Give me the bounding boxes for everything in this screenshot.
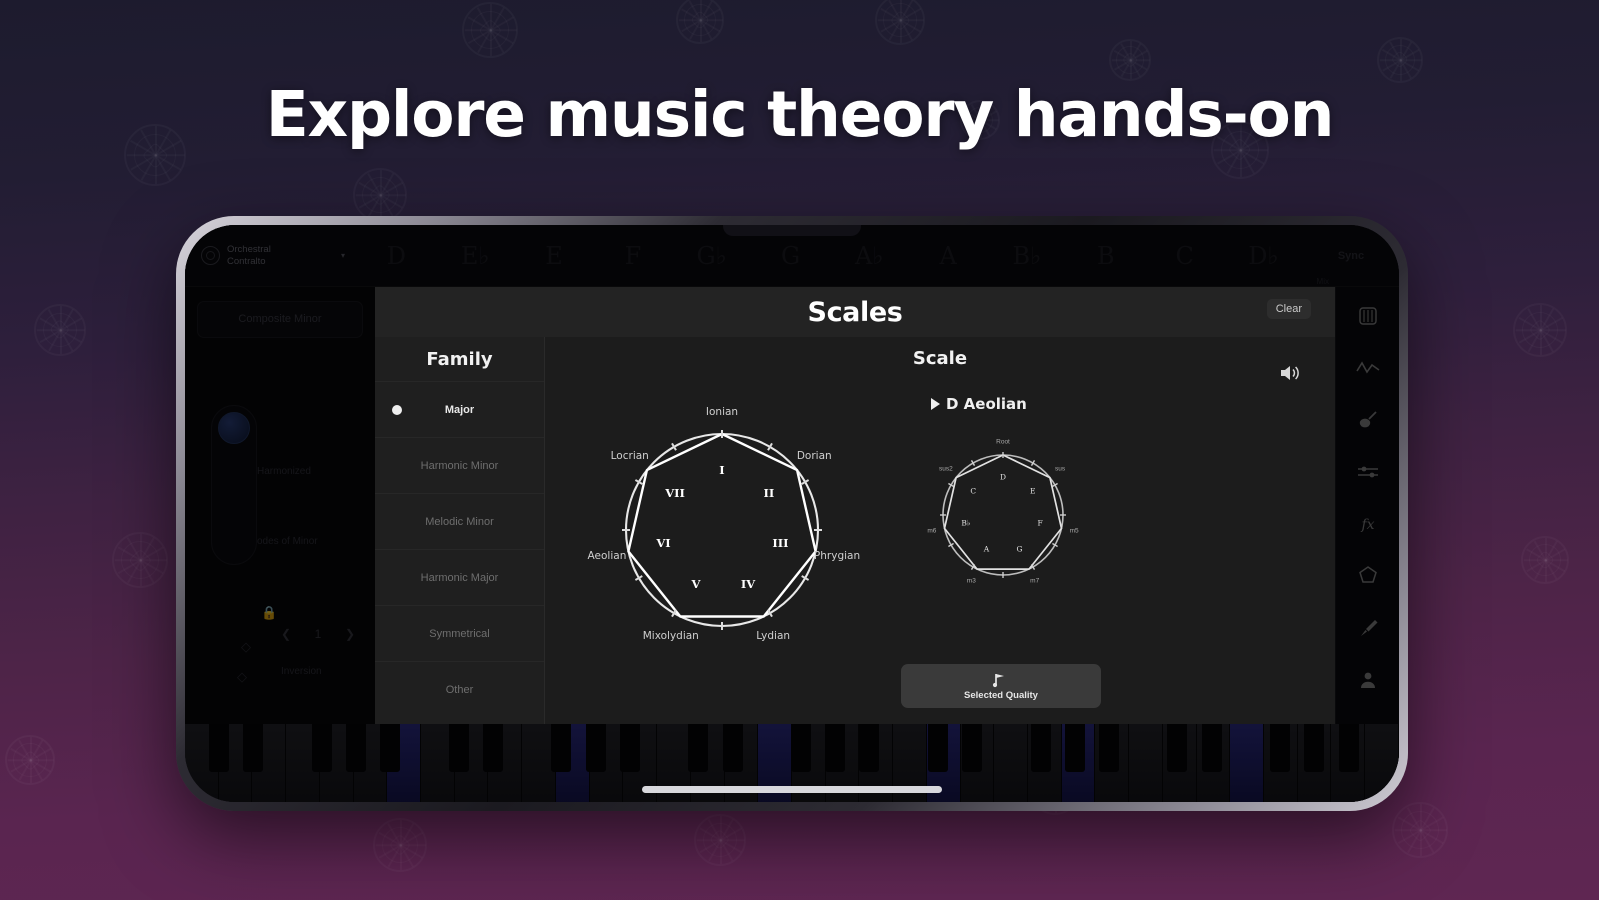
watermark-circle-of-fifths — [1513, 303, 1567, 357]
note-button-8[interactable]: B♭ — [988, 242, 1067, 270]
piano-black-key-14[interactable] — [859, 724, 879, 772]
piano-black-key-12[interactable] — [791, 724, 811, 772]
note-button-11[interactable]: D♭ — [1224, 242, 1303, 270]
family-item-label: Harmonic Minor — [421, 460, 499, 472]
family-item-label: Harmonic Major — [421, 572, 499, 584]
settings-diamond-icon[interactable]: ◇ — [241, 639, 251, 655]
note-button-0[interactable]: D — [357, 242, 436, 270]
piano-black-key-1[interactable] — [243, 724, 263, 772]
chord-wheel-note-2[interactable]: F — [1037, 519, 1042, 528]
preset-selector[interactable]: Orchestral Contralto ▾ — [185, 244, 357, 268]
modes-of-minor-label: odes of Minor — [257, 535, 318, 550]
chord-wheel-note-6[interactable]: C — [970, 487, 976, 496]
degree-III[interactable]: III — [772, 536, 788, 550]
inversion-stepper[interactable]: ❮ 1 ❯ — [281, 627, 355, 641]
inversion-label: Inversion — [281, 665, 322, 680]
mode-label-phrygian[interactable]: Phrygian — [814, 550, 860, 562]
mode-label-locrian[interactable]: Locrian — [611, 450, 649, 462]
family-item-label: Melodic Minor — [425, 516, 493, 528]
watermark-circle-of-fifths — [34, 304, 86, 356]
clear-button[interactable]: Clear — [1267, 299, 1311, 319]
piano-black-key-9[interactable] — [620, 724, 640, 772]
note-button-4[interactable]: G♭ — [672, 242, 751, 270]
watermark-circle-of-fifths — [1521, 536, 1569, 584]
family-item-label: Major — [445, 404, 474, 416]
black-keys[interactable] — [185, 724, 1399, 772]
lock-icon[interactable]: 🔒 — [261, 605, 277, 621]
polygon-icon[interactable] — [1351, 561, 1385, 591]
loop-icon[interactable]: ◇ — [237, 669, 247, 685]
degree-VII[interactable]: VII — [665, 486, 685, 500]
chord-wheel-note-5[interactable]: B♭ — [961, 519, 970, 528]
chord-wheel-label-0[interactable]: Root — [996, 439, 1010, 446]
family-item-label: Symmetrical — [429, 628, 490, 640]
page-title: Explore music theory hands-on — [0, 78, 1599, 151]
selected-quality-button[interactable]: Selected Quality — [901, 664, 1101, 708]
degree-V[interactable]: V — [691, 577, 700, 591]
chord-wheel-label-6[interactable]: sus2 — [939, 466, 953, 473]
piano-black-key-8[interactable] — [586, 724, 606, 772]
note-button-9[interactable]: B — [1066, 242, 1145, 270]
chord-wheel-note-1[interactable]: E — [1030, 487, 1035, 496]
waveform-icon[interactable] — [1351, 353, 1385, 383]
piano-black-key-17[interactable] — [1031, 724, 1051, 772]
selected-quality-label: Selected Quality — [964, 690, 1038, 701]
note-button-2[interactable]: E — [515, 242, 594, 270]
family-item-label: Other — [446, 684, 474, 696]
family-item-harmonic-minor[interactable]: Harmonic Minor — [375, 437, 544, 493]
play-icon[interactable] — [931, 398, 940, 410]
piano-black-key-16[interactable] — [962, 724, 982, 772]
chord-quality-label: Composite Minor — [206, 311, 354, 328]
phone-device-frame: Orchestral Contralto ▾ DE♭EFG♭GA♭AB♭BCD♭… — [176, 216, 1408, 811]
note-button-3[interactable]: F — [593, 242, 672, 270]
note-button-6[interactable]: A♭ — [830, 242, 909, 270]
speaker-icon[interactable] — [1279, 363, 1301, 388]
piano-black-key-10[interactable] — [688, 724, 708, 772]
note-list[interactable]: DE♭EFG♭GA♭AB♭BCD♭ — [357, 242, 1303, 270]
modal-title: Scales — [808, 297, 903, 328]
mode-wheel-svg[interactable] — [597, 405, 847, 655]
piano-black-key-19[interactable] — [1099, 724, 1119, 772]
watermark-circle-of-fifths — [112, 532, 168, 588]
piano-black-key-7[interactable] — [551, 724, 571, 772]
piano-black-key-21[interactable] — [1202, 724, 1222, 772]
chord-wheel[interactable]: Rootsusm5m7m3m6sus2 DEFGAB♭C — [923, 435, 1083, 595]
piano-black-key-4[interactable] — [380, 724, 400, 772]
watermark-circle-of-fifths — [353, 168, 407, 222]
chord-wheel-note-0[interactable]: D — [1000, 473, 1006, 482]
degree-IV[interactable]: IV — [741, 577, 755, 591]
chevron-down-icon[interactable]: ▾ — [341, 251, 345, 260]
chord-wheel-label-3[interactable]: m7 — [1030, 577, 1039, 584]
preset-name: Orchestral Contralto — [227, 244, 311, 268]
svg-text:fx: fx — [1360, 517, 1374, 533]
piano-black-key-15[interactable] — [928, 724, 948, 772]
watermark-circle-of-fifths — [373, 818, 427, 872]
piano-black-key-6[interactable] — [483, 724, 503, 772]
degree-I[interactable]: I — [719, 463, 724, 477]
phone-screen: Orchestral Contralto ▾ DE♭EFG♭GA♭AB♭BCD♭… — [185, 225, 1399, 802]
watermark-circle-of-fifths — [1377, 37, 1423, 83]
scale-title: Scale — [545, 348, 1335, 369]
mode-label-dorian[interactable]: Dorian — [797, 450, 832, 462]
mode-label-lydian[interactable]: Lydian — [756, 630, 790, 642]
scales-modal[interactable]: Scales Clear Family MajorHarmonic MinorM… — [375, 287, 1335, 724]
piano-black-key-24[interactable] — [1339, 724, 1359, 772]
brush-icon[interactable] — [1351, 613, 1385, 643]
harmonized-label: Harmonized — [257, 465, 311, 480]
watermark-circle-of-fifths — [875, 0, 925, 45]
chord-wheel-label-1[interactable]: sus — [1055, 466, 1065, 473]
piano-black-key-13[interactable] — [825, 724, 845, 772]
watermark-circle-of-fifths — [462, 2, 518, 58]
sync-label[interactable]: Sync — [1303, 250, 1399, 262]
piano-black-key-18[interactable] — [1065, 724, 1085, 772]
guitar-icon[interactable] — [1351, 405, 1385, 435]
chord-wheel-label-4[interactable]: m3 — [967, 577, 976, 584]
quality-icon — [992, 672, 1010, 688]
chord-name[interactable]: D Aeolian — [931, 395, 1027, 413]
mode-label-aeolian[interactable]: Aeolian — [588, 550, 627, 562]
chord-wheel-note-3[interactable]: G — [1016, 545, 1022, 554]
piano-black-key-5[interactable] — [449, 724, 469, 772]
note-button-1[interactable]: E♭ — [436, 242, 515, 270]
note-button-7[interactable]: A — [909, 242, 988, 270]
family-title: Family — [375, 337, 544, 381]
piano-black-key-22[interactable] — [1270, 724, 1290, 772]
chord-knob[interactable] — [218, 412, 250, 444]
modal-header: Scales Clear — [375, 287, 1335, 337]
watermark-circle-of-fifths — [1392, 802, 1448, 858]
watermark-circle-of-fifths — [676, 0, 724, 44]
stepper-prev-button[interactable]: ❮ — [281, 627, 291, 641]
family-item-melodic-minor[interactable]: Melodic Minor — [375, 493, 544, 549]
person-icon[interactable] — [1351, 665, 1385, 695]
modal-body: Family MajorHarmonic MinorMelodic MinorH… — [375, 337, 1335, 724]
chord-wheel-svg[interactable] — [923, 435, 1083, 595]
family-item-harmonic-major[interactable]: Harmonic Major — [375, 549, 544, 605]
chord-quality-card[interactable]: Composite Minor — [197, 301, 363, 338]
degree-II[interactable]: II — [764, 486, 775, 500]
grid-icon[interactable] — [1351, 301, 1385, 331]
degree-VI[interactable]: VI — [656, 536, 670, 550]
mode-wheel[interactable]: IonianDorianPhrygianLydianMixolydianAeol… — [597, 405, 847, 655]
piano-black-key-3[interactable] — [346, 724, 366, 772]
piano-black-key-0[interactable] — [209, 724, 229, 772]
sliders-icon[interactable] — [1351, 457, 1385, 487]
chord-wheel-label-2[interactable]: m5 — [1070, 528, 1079, 535]
family-item-symmetrical[interactable]: Symmetrical — [375, 605, 544, 661]
mode-label-mixolydian[interactable]: Mixolydian — [643, 630, 699, 642]
piano-black-key-23[interactable] — [1304, 724, 1324, 772]
watermark-circle-of-fifths — [694, 814, 746, 866]
fx-icon[interactable]: fx — [1351, 509, 1385, 539]
home-indicator — [642, 786, 942, 793]
chord-wheel-label-5[interactable]: m6 — [927, 528, 936, 535]
family-item-major[interactable]: Major — [375, 381, 544, 437]
piano-black-key-2[interactable] — [312, 724, 332, 772]
app-logo-icon — [201, 246, 220, 265]
rail-tick-mix: Mix — [1317, 277, 1329, 286]
chord-name-label: D Aeolian — [946, 395, 1027, 413]
family-list[interactable]: MajorHarmonic MinorMelodic MinorHarmonic… — [375, 381, 544, 717]
selected-dot — [392, 405, 402, 415]
watermark-circle-of-fifths — [1109, 39, 1151, 81]
stepper-value: 1 — [315, 627, 322, 641]
phone-notch — [723, 225, 861, 236]
mode-label-ionian[interactable]: Ionian — [706, 406, 738, 418]
chord-wheel-note-4[interactable]: A — [984, 545, 989, 554]
note-button-5[interactable]: G — [751, 242, 830, 270]
piano-black-key-11[interactable] — [723, 724, 743, 772]
watermark-circle-of-fifths — [5, 735, 55, 785]
family-column[interactable]: Family MajorHarmonic MinorMelodic MinorH… — [375, 337, 545, 724]
family-item-other[interactable]: Other — [375, 661, 544, 717]
note-button-10[interactable]: C — [1145, 242, 1224, 270]
scale-column[interactable]: Scale — [545, 337, 1335, 724]
stepper-next-button[interactable]: ❯ — [345, 627, 355, 641]
piano-black-key-20[interactable] — [1167, 724, 1187, 772]
